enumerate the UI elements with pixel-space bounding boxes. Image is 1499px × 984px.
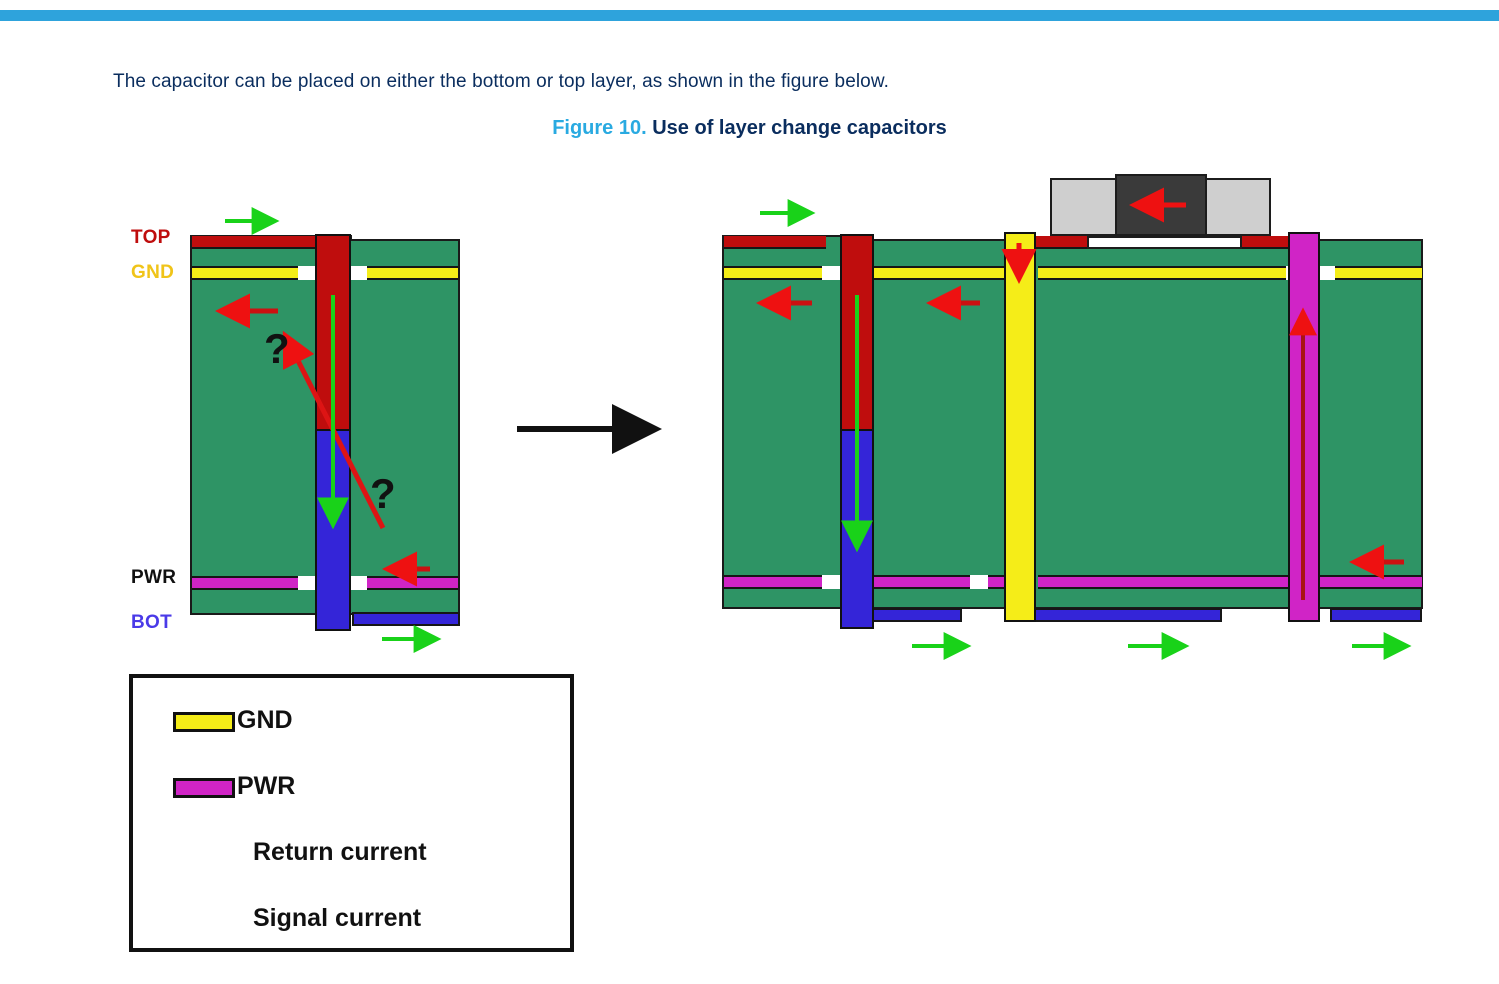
left-pwr-antipad-right: [350, 576, 367, 590]
transition-arrow: [517, 404, 662, 454]
left-signal-via-bottom-half: [315, 429, 351, 631]
right-bot-copper-c: [1330, 608, 1422, 622]
right-gnd-plane-d: [1334, 266, 1422, 280]
left-gnd-plane-b: [366, 266, 458, 280]
capacitor-terminal-right: [1205, 178, 1271, 236]
left-pwr-plane-a: [192, 576, 298, 590]
right-pwr-via: [1288, 232, 1320, 622]
capacitor-terminal-left: [1050, 178, 1118, 236]
right-board-seg-3: [1008, 239, 1296, 609]
left-pwr-antipad-left: [298, 576, 316, 590]
right-top-copper-a: [724, 236, 826, 249]
right-top-copper-b: [1036, 236, 1094, 249]
right-gnd-antipad-1: [822, 266, 840, 280]
left-signal-via-top-half: [315, 234, 351, 431]
legend-item-return-current: Return current: [133, 832, 570, 878]
right-signal-via-bottom-half: [840, 429, 874, 629]
legend-label-pwr: PWR: [237, 772, 295, 801]
left-pwr-plane-b: [366, 576, 458, 590]
left-label-top: TOP: [131, 227, 171, 249]
left-label-gnd: GND: [131, 262, 174, 284]
right-signal-via-top-half: [840, 234, 874, 431]
right-gnd-plane-b: [864, 266, 1004, 280]
left-bot-copper: [352, 612, 460, 626]
left-gnd-antipad-left: [298, 266, 316, 280]
capacitor-body: [1115, 174, 1207, 236]
figure-legend: GND PWR Return current Signal current: [129, 674, 574, 952]
legend-swatch-pwr: [173, 778, 235, 798]
legend-item-pwr: PWR: [133, 766, 570, 812]
legend-item-signal-current: Signal current: [133, 898, 570, 944]
right-pwr-antipad-1: [822, 575, 840, 589]
right-gnd-antipad-4: [1318, 266, 1335, 280]
right-pwr-plane-b: [864, 575, 970, 589]
right-pwr-plane-a: [724, 575, 822, 589]
right-gnd-via: [1004, 232, 1036, 622]
right-bot-copper-b: [1014, 608, 1222, 622]
right-board-seg-1: [722, 235, 850, 609]
legend-item-gnd: GND: [133, 700, 570, 746]
legend-swatch-gnd: [173, 712, 235, 732]
left-gnd-antipad-right: [350, 266, 367, 280]
left-top-copper: [192, 236, 318, 249]
figure-canvas: TOP GND PWR BOT: [0, 0, 1499, 984]
capacitor-solder-pad: [1087, 236, 1242, 249]
right-gnd-plane-a: [724, 266, 822, 280]
left-label-pwr: PWR: [131, 567, 176, 589]
right-pwr-plane-d: [1038, 575, 1422, 589]
right-gnd-plane-c: [1038, 266, 1286, 280]
legend-label-return-current: Return current: [253, 838, 427, 867]
left-label-bot: BOT: [131, 612, 172, 634]
right-pwr-antipad-3: [970, 575, 988, 589]
left-board-substrate-b: [348, 239, 460, 615]
legend-label-signal-current: Signal current: [253, 904, 421, 933]
legend-label-gnd: GND: [237, 706, 293, 735]
left-gnd-plane-a: [192, 266, 298, 280]
